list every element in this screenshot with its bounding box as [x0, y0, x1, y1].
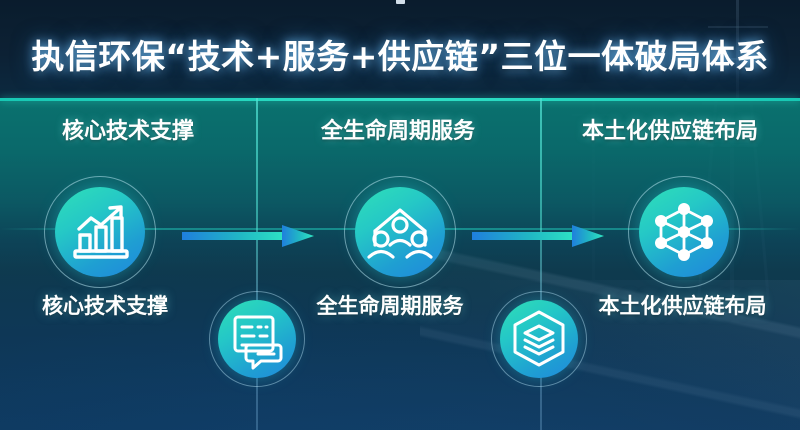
top-edge-marker	[396, 0, 405, 4]
arrow-right-2	[472, 223, 608, 249]
column-icon-3[interactable]	[628, 176, 740, 288]
arrow-right-1	[182, 223, 318, 249]
network-nodes-icon	[639, 187, 729, 277]
column-icon-1[interactable]	[44, 176, 156, 288]
column-footer-2: 全生命周期服务	[290, 290, 490, 320]
title-band: 执信环保“技术+服务+供应链”三位一体破局体系	[0, 0, 800, 98]
column-icon-2[interactable]	[344, 176, 456, 288]
secondary-icon-1[interactable]	[209, 291, 305, 387]
column-header-2: 全生命周期服务	[256, 113, 540, 145]
page-title: 执信环保“技术+服务+供应链”三位一体破局体系	[0, 30, 800, 78]
layers-hexagon-icon	[500, 300, 578, 378]
panel-top-accent-line	[0, 98, 800, 101]
document-chat-icon	[218, 300, 296, 378]
column-footer-3: 本土化供应链布局	[575, 290, 790, 320]
column-header-3: 本土化供应链布局	[540, 113, 800, 145]
secondary-icon-2[interactable]	[491, 291, 587, 387]
team-service-icon	[355, 187, 445, 277]
column-header-1: 核心技术支撑	[0, 113, 256, 145]
column-footer-1: 核心技术支撑	[0, 290, 210, 320]
bar-chart-growth-icon	[55, 187, 145, 277]
slide-canvas: 执信环保“技术+服务+供应链”三位一体破局体系 核心技术支撑 全生命周期服务 本…	[0, 0, 800, 430]
